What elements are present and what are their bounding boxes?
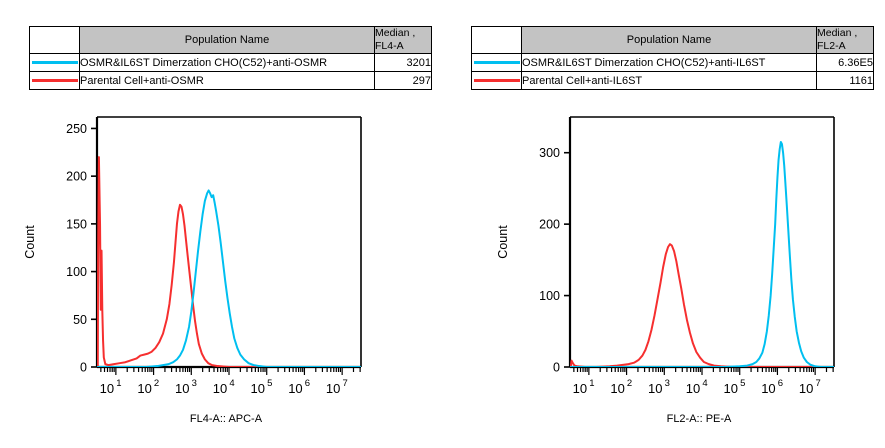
y-tick-label: 300 (539, 146, 560, 160)
histogram-plot-right: 0100200300101102103104105106107Count (453, 108, 853, 398)
x-tick-label: 105 (723, 378, 745, 396)
red-line-swatch (32, 79, 78, 82)
legend-header-row: Population Name Median , FL4-A (30, 27, 432, 54)
y-tick-label: 250 (66, 122, 87, 136)
legend-population-name: OSMR&IL6ST Dimerzation CHO(C52)+anti-IL6… (522, 54, 817, 72)
svg-text:10: 10 (213, 381, 227, 396)
panel-fl2-pe: Population Name Median , FL2-A OSMR&IL6S… (443, 0, 885, 448)
svg-text:6: 6 (305, 378, 310, 389)
x-tick-label: 106 (761, 378, 783, 396)
y-tick-label: 50 (73, 313, 87, 327)
svg-text:4: 4 (229, 378, 234, 389)
x-tick-label: 103 (175, 378, 197, 396)
y-tick-label: 0 (80, 361, 87, 375)
legend-population-name: OSMR&IL6ST Dimerzation CHO(C52)+anti-OSM… (80, 54, 375, 72)
y-tick-label: 100 (66, 265, 87, 279)
y-tick-label: 0 (553, 361, 560, 375)
svg-text:10: 10 (288, 381, 302, 396)
svg-text:10: 10 (648, 381, 662, 396)
legend-header-swatch-cell (472, 27, 522, 54)
legend-median-value: 3201 (375, 54, 432, 72)
legend-table-left: Population Name Median , FL4-A OSMR&IL6S… (29, 26, 432, 90)
legend-header-row: Population Name Median , FL2-A (472, 27, 874, 54)
histogram-svg: 050100150200250101102103104105106107Coun… (10, 108, 410, 398)
svg-text:2: 2 (154, 378, 159, 389)
svg-text:10: 10 (610, 381, 624, 396)
legend-header-median-line2: FL2-A (817, 40, 873, 53)
legend-table-right: Population Name Median , FL2-A OSMR&IL6S… (471, 26, 874, 90)
svg-text:1: 1 (589, 378, 594, 389)
legend-swatch-cell (30, 72, 80, 90)
svg-text:5: 5 (267, 378, 272, 389)
y-axis-title: Count (23, 225, 37, 259)
svg-text:10: 10 (723, 381, 737, 396)
x-tick-label: 101 (573, 378, 595, 396)
histogram-plot-left: 050100150200250101102103104105106107Coun… (10, 108, 410, 398)
legend-swatch-cell (472, 54, 522, 72)
svg-text:3: 3 (192, 378, 197, 389)
histogram-trace (98, 157, 361, 367)
svg-text:7: 7 (815, 378, 820, 389)
legend-header-median-line1: Median , (817, 27, 873, 40)
x-tick-label: 106 (288, 378, 310, 396)
red-line-swatch (474, 79, 520, 82)
x-tick-label: 103 (648, 378, 670, 396)
x-tick-label: 104 (213, 378, 235, 396)
legend-median-value: 6.36E5 (817, 54, 874, 72)
x-tick-label: 107 (326, 378, 348, 396)
y-tick-label: 200 (66, 170, 87, 184)
svg-text:10: 10 (761, 381, 775, 396)
svg-text:10: 10 (799, 381, 813, 396)
x-axis-title: FL2-A:: PE-A (559, 413, 839, 425)
x-tick-label: 102 (610, 378, 632, 396)
legend-header-median-line2: FL4-A (375, 40, 431, 53)
legend-swatch-cell (30, 54, 80, 72)
histogram-trace (98, 190, 361, 367)
svg-text:1: 1 (116, 378, 121, 389)
legend-header-population-name: Population Name (522, 27, 817, 54)
x-tick-label: 101 (100, 378, 122, 396)
y-tick-label: 150 (66, 217, 87, 231)
table-row[interactable]: Parental Cell+anti-OSMR 297 (30, 72, 432, 90)
svg-text:4: 4 (702, 378, 707, 389)
cyan-line-swatch (32, 61, 78, 64)
legend-header-median: Median , FL4-A (375, 27, 432, 54)
svg-text:10: 10 (686, 381, 700, 396)
legend-header-median: Median , FL2-A (817, 27, 874, 54)
svg-text:10: 10 (326, 381, 340, 396)
svg-text:10: 10 (137, 381, 151, 396)
table-row[interactable]: OSMR&IL6ST Dimerzation CHO(C52)+anti-OSM… (30, 54, 432, 72)
svg-text:5: 5 (740, 378, 745, 389)
legend-median-value: 297 (375, 72, 432, 90)
x-tick-label: 107 (799, 378, 821, 396)
legend-swatch-cell (472, 72, 522, 90)
svg-text:10: 10 (100, 381, 114, 396)
svg-text:10: 10 (573, 381, 587, 396)
x-tick-label: 105 (250, 378, 272, 396)
legend-header-median-line1: Median , (375, 27, 431, 40)
y-tick-label: 100 (539, 289, 560, 303)
svg-text:3: 3 (665, 378, 670, 389)
svg-text:7: 7 (342, 378, 347, 389)
histogram-trace (571, 142, 834, 367)
x-axis-title: FL4-A:: APC-A (86, 413, 366, 425)
y-tick-label: 200 (539, 218, 560, 232)
histogram-svg: 0100200300101102103104105106107Count (453, 108, 853, 398)
legend-median-value: 1161 (817, 72, 874, 90)
svg-text:10: 10 (175, 381, 189, 396)
legend-header-population-name: Population Name (80, 27, 375, 54)
legend-header-swatch-cell (30, 27, 80, 54)
legend-population-name: Parental Cell+anti-OSMR (80, 72, 375, 90)
svg-text:6: 6 (778, 378, 783, 389)
table-row[interactable]: Parental Cell+anti-IL6ST 1161 (472, 72, 874, 90)
cyan-line-swatch (474, 61, 520, 64)
x-tick-label: 104 (686, 378, 708, 396)
legend-population-name: Parental Cell+anti-IL6ST (522, 72, 817, 90)
panel-fl4-apc: Population Name Median , FL4-A OSMR&IL6S… (0, 0, 442, 448)
svg-text:10: 10 (250, 381, 264, 396)
x-tick-label: 102 (137, 378, 159, 396)
table-row[interactable]: OSMR&IL6ST Dimerzation CHO(C52)+anti-IL6… (472, 54, 874, 72)
y-axis-title: Count (496, 225, 510, 259)
svg-text:2: 2 (627, 378, 632, 389)
